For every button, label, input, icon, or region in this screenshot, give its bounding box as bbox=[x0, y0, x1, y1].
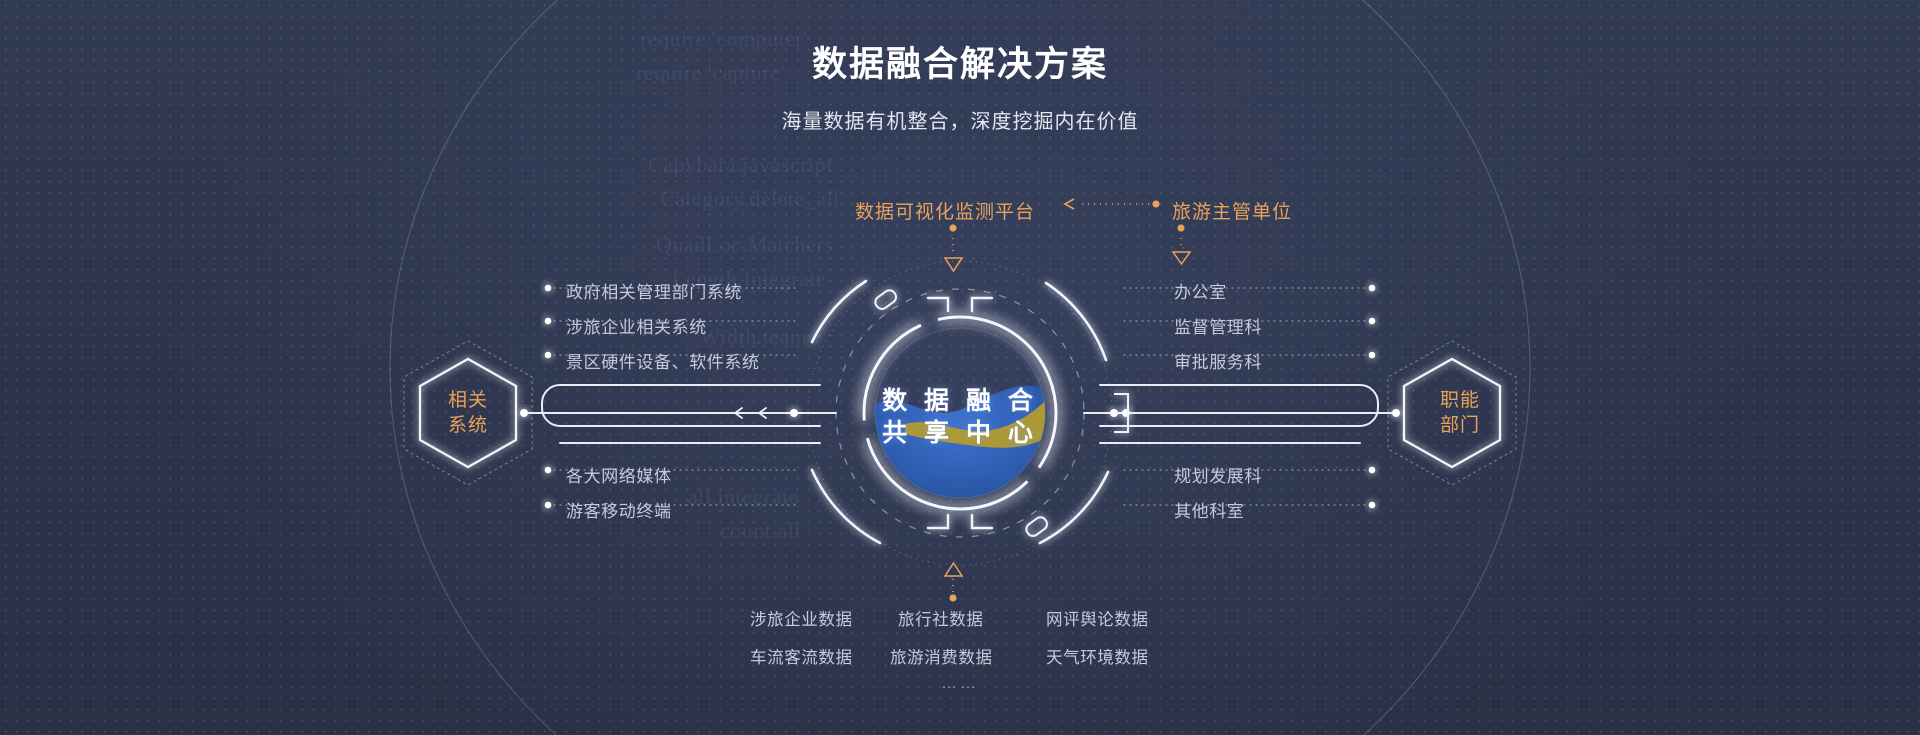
right-department-item-1[interactable]: 办公室 bbox=[1174, 278, 1227, 303]
vertical-flow-arrow-left bbox=[945, 224, 962, 271]
left-source-item-2[interactable]: 涉旅企业相关系统 bbox=[566, 313, 707, 338]
page-title: 数据融合解决方案 bbox=[0, 36, 1920, 87]
right-department-item-4[interactable]: 规划发展科 bbox=[1174, 462, 1262, 487]
right-department-item-3[interactable]: 审批服务科 bbox=[1174, 348, 1262, 373]
page-subtitle: 海量数据有机整合，深度挖掘内在价值 bbox=[0, 105, 1920, 134]
hexagon-left-label[interactable]: 相关 系统 bbox=[418, 388, 518, 438]
center-title-line2: 共 享 中 心 bbox=[0, 413, 1920, 449]
bottom-flow-arrow bbox=[945, 563, 962, 602]
bottom-data-item-5[interactable]: 旅游消费数据 bbox=[890, 644, 993, 668]
bottom-data-item-3[interactable]: 网评舆论数据 bbox=[1046, 606, 1149, 630]
vertical-flow-arrow-right bbox=[1173, 224, 1190, 264]
left-source-item-4[interactable]: 各大网络媒体 bbox=[566, 462, 672, 487]
left-source-item-3[interactable]: 景区硬件设备、软件系统 bbox=[566, 348, 760, 373]
left-source-item-5[interactable]: 游客移动终端 bbox=[566, 497, 672, 522]
label-tourism-authority[interactable]: 旅游主管单位 bbox=[1172, 197, 1292, 224]
right-department-item-2[interactable]: 监督管理科 bbox=[1174, 313, 1262, 338]
bottom-data-item-2[interactable]: 旅行社数据 bbox=[898, 606, 984, 630]
hexagon-right-label[interactable]: 职能 部门 bbox=[1410, 388, 1510, 438]
hexagon-right-line2: 部门 bbox=[1410, 413, 1510, 438]
hexagon-left-line1: 相关 bbox=[418, 388, 518, 413]
left-source-item-1[interactable]: 政府相关管理部门系统 bbox=[566, 278, 742, 303]
top-flow-arrow bbox=[1065, 199, 1160, 209]
bottom-data-item-4[interactable]: 车流客流数据 bbox=[750, 644, 853, 668]
bottom-data-item-6[interactable]: 天气环境数据 bbox=[1046, 644, 1149, 668]
center-title-line1: 数 据 融 合 bbox=[0, 381, 1920, 417]
label-visualization-platform[interactable]: 数据可视化监测平台 bbox=[855, 197, 1035, 224]
bottom-data-ellipsis: …… bbox=[0, 675, 1920, 693]
bottom-data-item-1[interactable]: 涉旅企业数据 bbox=[750, 606, 853, 630]
hexagon-right-line1: 职能 bbox=[1410, 388, 1510, 413]
hexagon-left-line2: 系统 bbox=[418, 413, 518, 438]
right-department-item-5[interactable]: 其他科室 bbox=[1174, 497, 1244, 522]
